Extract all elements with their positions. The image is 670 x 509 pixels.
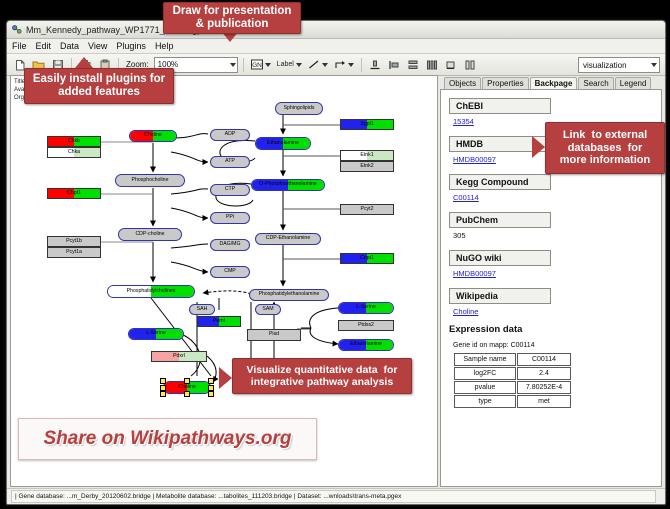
node-label: ADP [225,132,236,137]
selection-handle[interactable] [184,391,190,397]
expression-key: Sample name [454,353,516,366]
node-label: Choline [178,385,196,390]
node-label: Pemt [213,319,225,324]
side-panel-tabs: ObjectsPropertiesBackpageSearchLegend [440,75,662,89]
node-label: L-Serine [356,305,376,310]
selection-handle[interactable] [184,378,190,384]
table-row: log2FC2.4 [454,367,571,380]
node-label: CDP-Ethanolamine [266,236,310,241]
metabolite-node-sphingolipids[interactable]: Sphingolipids [275,102,323,115]
expression-key: pvalue [454,381,516,394]
metabolite-node-dag-mg[interactable]: DAG/MG [210,239,250,251]
metabolite-node-adp[interactable]: ADP [210,129,250,141]
callout-share-wikipathways: Share on Wikipathways.org [18,418,317,460]
table-row: pvalue7.80252E-4 [454,381,571,394]
metabolite-node-sah[interactable]: SAH [189,304,215,315]
db-header-wikipedia: Wikipedia [449,288,551,304]
metabolite-node-ctp[interactable]: CTP [210,184,250,196]
metabolite-node-ethanolamine[interactable]: Ethanolamine [338,339,394,351]
table-row: Sample nameC00114 [454,353,571,366]
metabolite-node-o-phosphoethanolamine[interactable]: O-Phosphoethanolamine [251,179,325,191]
node-label: Sphingolipids [284,106,315,111]
align-left-icon[interactable] [386,56,403,73]
db-header-pubchem: PubChem [449,212,551,228]
node-label: CDP-choline [135,232,164,237]
gene-node-etnk1[interactable]: Etnk1 [340,150,394,161]
gene-node-chka[interactable]: Chka [47,147,101,158]
chevron-down-icon[interactable] [322,63,328,67]
db-header-chebi: ChEBI [449,98,551,114]
node-label: Choline [144,133,162,138]
metabolite-node-cmp[interactable]: CMP [210,266,250,278]
node-label: Ethanolamine [350,342,382,347]
node-label: PPi [226,215,234,220]
gene-node-chpt1[interactable]: Chpt1 [47,188,101,199]
node-label: Phosphatidylcholines [127,289,176,294]
node-label: Pcyt2 [361,207,374,212]
app-icon [11,24,22,35]
metabolite-node-choline[interactable]: Choline [129,130,177,142]
metabolite-node-atp[interactable]: ATP [210,156,250,168]
statusbar-text: | Gene database: ...m_Derby_20120602.bri… [11,490,656,503]
share-text: Share on Wikipathways.org [44,428,292,450]
node-label: Ptdss2 [358,323,374,328]
gene-node-cept1[interactable]: Cept1 [340,253,394,264]
node-label: Phosphocholine [132,178,169,183]
chevron-down-icon[interactable] [296,63,302,67]
node-label: Ethanolamine [267,141,299,146]
gene-node-etnk2[interactable]: Etnk2 [340,161,394,172]
selection-handle[interactable] [208,385,214,391]
node-label: Chkb [68,139,80,144]
visualization-value: visualization [583,61,627,70]
metabolite-node-l-serine[interactable]: L-Serine [128,328,184,340]
svg-text:GN: GN [252,62,262,69]
callout-external-links: Link to externaldatabases formore inform… [545,122,665,174]
metabolite-node-phosphocholine[interactable]: Phosphocholine [115,174,185,187]
gene-node-pdxrl[interactable]: Pdxrl [151,351,207,362]
tab-legend[interactable]: Legend [615,77,652,89]
node-label: Chpt1 [67,191,81,196]
tab-objects[interactable]: Objects [444,77,481,89]
selection-handle[interactable] [160,391,166,397]
expression-key: type [454,395,516,408]
node-label: Pcyt1a [66,250,82,255]
db-value-pubchem: 305 [453,231,661,240]
menu-plugins[interactable]: Plugins [116,41,146,51]
menu-view[interactable]: View [88,41,107,51]
gene-node-pisd[interactable]: Pisd [247,329,301,341]
chevron-down-icon[interactable] [230,63,236,67]
label-tool[interactable]: Label [275,57,304,72]
node-label: O-Phosphoethanolamine [259,182,316,187]
metabolite-node-l-serine[interactable]: L-Serine [338,302,394,314]
chevron-down-icon[interactable] [348,63,354,67]
metabolite-node-cdp-choline[interactable]: CDP-choline [118,228,182,241]
node-label: Chka [68,150,80,155]
metabolite-node-sam[interactable]: SAM [255,304,281,315]
gene-node-ptdss2[interactable]: Ptdss2 [338,320,394,331]
window-titlebar: Mm_Kennedy_pathway_WP1771_45176.gpml [7,21,665,39]
selection-handle[interactable] [208,378,214,384]
node-label: L-Serine [146,331,166,336]
tab-search[interactable]: Search [578,77,613,89]
node-label: SAM [262,307,273,312]
node-label: SAH [197,307,208,312]
align-bottom-icon[interactable] [367,56,384,73]
node-label: CMP [224,269,236,274]
label-tool-label: Label [277,61,294,68]
callout-install-plugins: Easily install plugins foradded features [24,68,174,104]
selection-handle[interactable] [160,378,166,384]
expression-key: log2FC [454,367,516,380]
node-label: Sgpl1 [360,122,373,127]
node-label: Pcyt1b [66,239,82,244]
chevron-down-icon[interactable] [265,63,271,67]
expression-value: 2.4 [517,367,571,380]
callout-visualize-arrow [219,367,232,389]
gene-node-chkb[interactable]: Chkb [47,136,101,147]
tab-backpage[interactable]: Backpage [530,77,578,89]
datanode-tool[interactable]: GN [249,57,273,72]
expression-value: C00114 [517,353,571,366]
expression-value: met [517,395,571,408]
visualization-combobox[interactable]: visualization [578,57,660,73]
toolbar-sep-3 [243,58,244,72]
gene-id-label: Gene id on mapp: C00114 [453,342,661,349]
node-label: Cept1 [360,256,374,261]
line-tool[interactable] [306,57,330,72]
expression-value: 7.80252E-4 [517,381,571,394]
menu-help[interactable]: Help [155,41,174,51]
node-label: DAG/MG [219,242,240,247]
selection-handle[interactable] [160,385,166,391]
tab-properties[interactable]: Properties [482,77,528,89]
callout-visualize-data: Visualize quantitative data forintegrati… [232,358,412,394]
metabolite-node-ethanolamine[interactable]: Ethanolamine [255,137,311,150]
screenshot-root: Mm_Kennedy_pathway_WP1771_45176.gpml Fil… [0,0,670,509]
gene-node-pcyt2[interactable]: Pcyt2 [340,204,394,215]
node-label: ATP [225,159,235,164]
toolbar-sep-4 [361,58,362,72]
menubar: File Edit Data View Plugins Help [7,39,665,54]
node-label: Etnk2 [360,164,373,169]
table-row: typemet [454,395,571,408]
gene-node-pcyt1b[interactable]: Pcyt1b [47,236,101,247]
gene-node-pcyt1a[interactable]: Pcyt1a [47,247,101,258]
selection-handle[interactable] [208,391,214,397]
db-header-nugo-wiki: NuGO wiki [449,250,551,266]
stack-icon[interactable] [405,56,422,73]
db-link-kegg-compound[interactable]: C00114 [453,193,661,202]
menu-edit[interactable]: Edit [36,41,52,51]
callout-links-arrow [532,136,545,158]
node-label: Pdxrl [173,354,185,359]
chevron-down-icon[interactable] [651,63,657,67]
metabolite-node-phosphatidylethanolamine[interactable]: Phosphatidylethanolamine [249,289,329,301]
expression-data-table: Sample nameC00114log2FC2.4pvalue7.80252E… [453,352,572,409]
db-link-nugo-wiki[interactable]: HMDB00097 [453,269,661,278]
db-link-wikipedia[interactable]: Choline [453,307,661,316]
node-label: Phosphatidylethanolamine [259,292,320,297]
gene-node-sgpl1[interactable]: Sgpl1 [340,119,394,130]
expression-data-heading: Expression data [449,324,661,335]
menu-data[interactable]: Data [60,41,79,51]
metabolite-node-cdp-ethanolamine[interactable]: CDP-Ethanolamine [255,233,321,245]
statusbar: | Gene database: ...m_Derby_20120602.bri… [7,488,665,504]
callout-draw-for-publication: Draw for presentation& publication [163,2,301,34]
group-icon[interactable] [443,56,460,73]
node-label: CTP [225,187,235,192]
menu-file[interactable]: File [12,41,27,51]
node-label: Pisd [269,332,279,337]
distribute-icon[interactable] [424,56,441,73]
db-header-kegg-compound: Kegg Compound [449,174,551,190]
gene-node-pemt[interactable]: Pemt [197,316,241,327]
ungroup-icon[interactable] [462,56,479,73]
callout-plugins-arrow [75,57,93,68]
metabolite-node-phosphatidylcholines[interactable]: Phosphatidylcholines [107,285,195,298]
node-label: Etnk1 [360,153,373,158]
arrow-shape-tool[interactable] [332,57,356,72]
metabolite-node-ppi[interactable]: PPi [210,212,250,224]
